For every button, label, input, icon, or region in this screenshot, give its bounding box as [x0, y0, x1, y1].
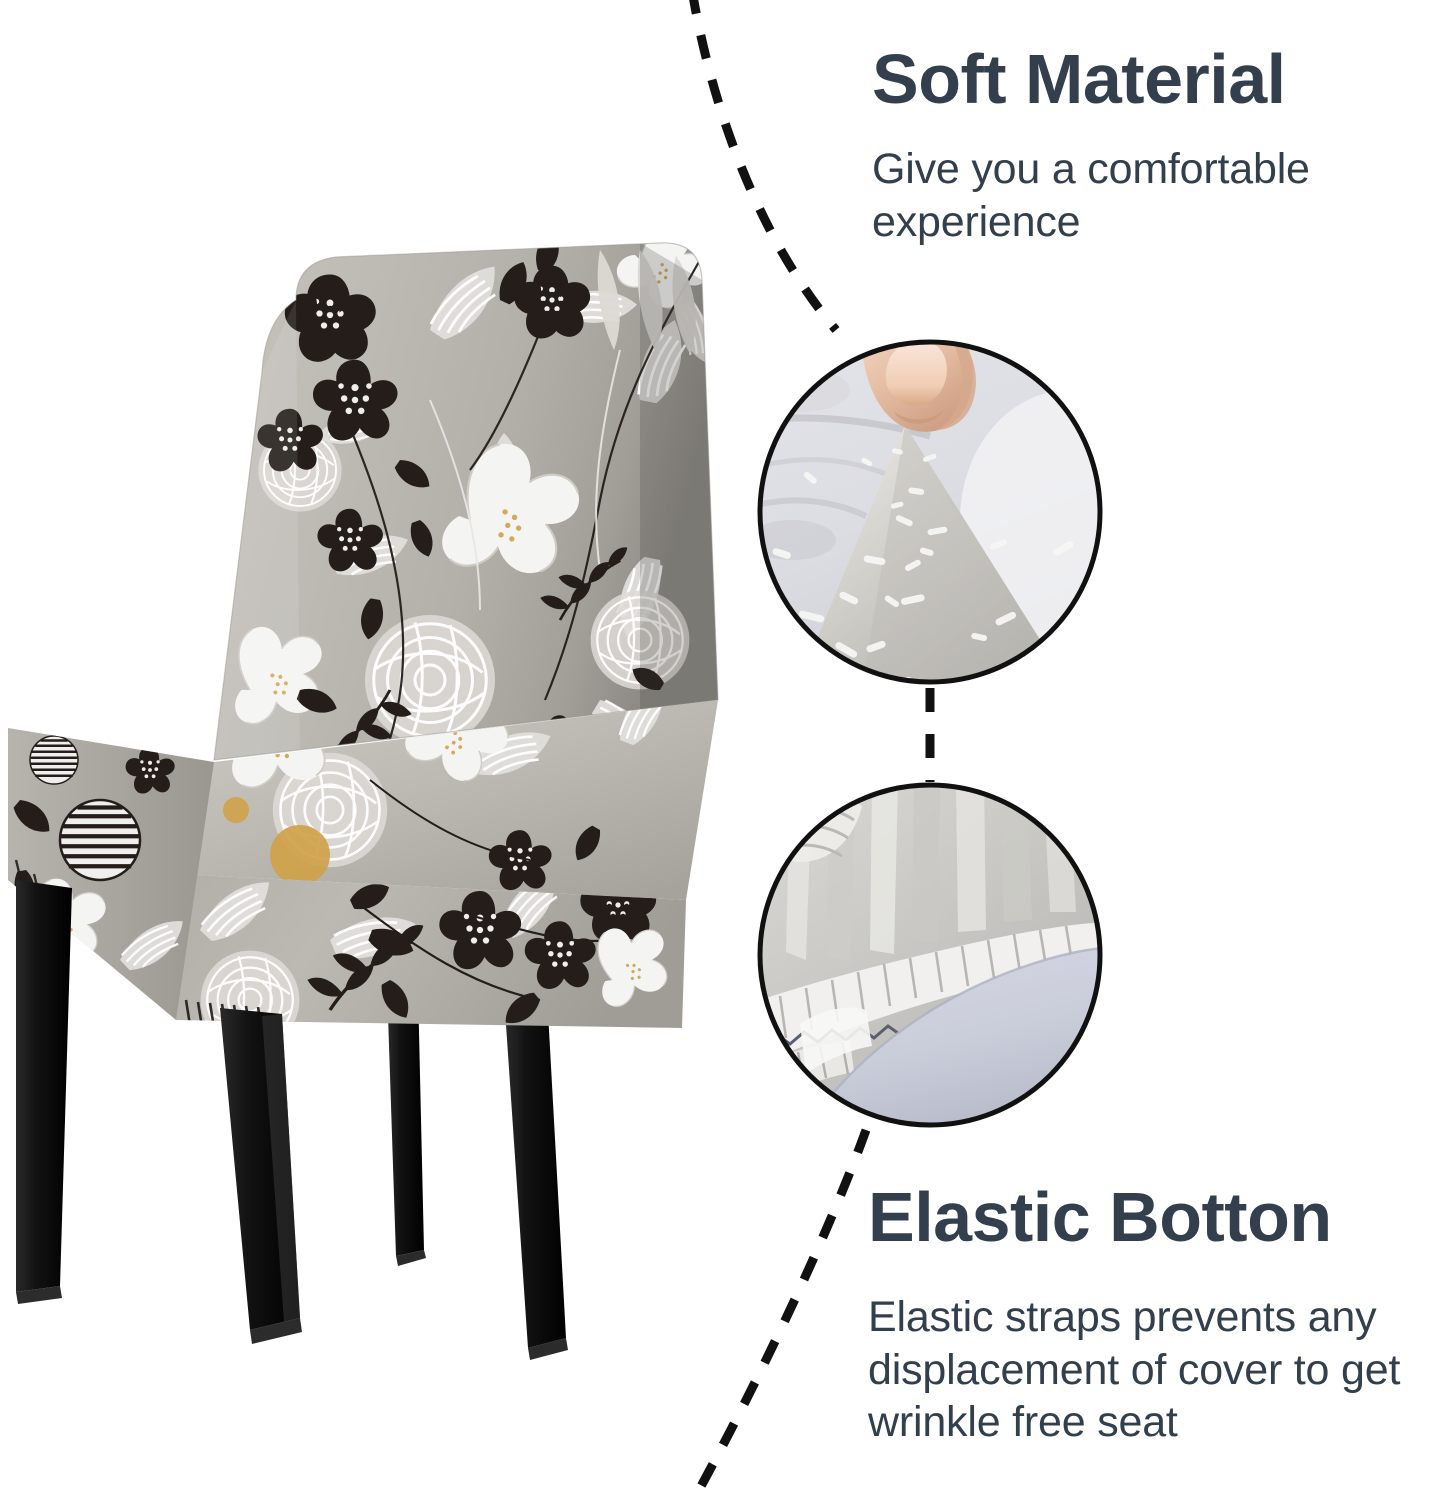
infographic-canvas: Soft Material Give you a comfortable exp… [0, 0, 1452, 1500]
feature-block-elastic-bottom: Elastic Botton Elastic straps prevents a… [868, 1182, 1428, 1449]
feature-block-soft-material: Soft Material Give you a comfortable exp… [872, 44, 1392, 248]
feature-body: Elastic straps prevents any displacement… [868, 1291, 1428, 1448]
feature-body: Give you a comfortable experience [872, 143, 1392, 248]
feature-headline: Elastic Botton [868, 1182, 1428, 1253]
feature-headline: Soft Material [872, 44, 1392, 115]
